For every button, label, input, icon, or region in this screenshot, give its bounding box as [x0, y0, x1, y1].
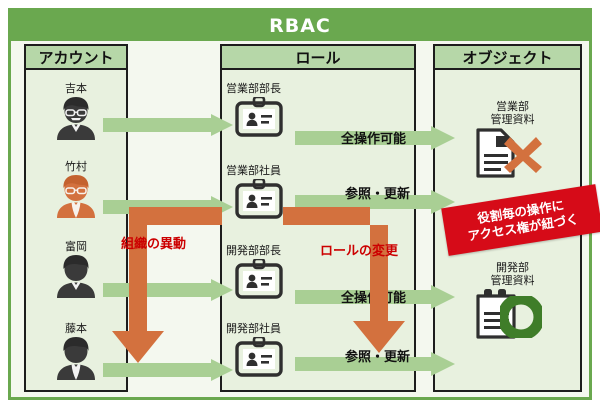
- cross-mark-icon: [503, 136, 543, 174]
- document-icon: [475, 127, 537, 179]
- id-badge-icon: [234, 259, 284, 299]
- object-entry-1[interactable]: 営業部 管理資料: [465, 100, 560, 179]
- account-entry-4[interactable]: 藤本: [30, 322, 122, 380]
- account-entry-2[interactable]: 竹村: [30, 160, 122, 218]
- object-entry-2[interactable]: 開発部 管理資料: [465, 261, 560, 340]
- object-name-1-line1: 営業部: [465, 100, 560, 113]
- person-icon: [53, 254, 99, 298]
- diagram-title: RBAC: [11, 11, 589, 41]
- account-entry-1[interactable]: 吉本: [30, 82, 122, 140]
- object-name-2-line2: 管理資料: [465, 274, 560, 287]
- id-badge-icon: [234, 179, 284, 219]
- role-change-arrow: [283, 203, 413, 355]
- role-column-header: ロール: [220, 44, 416, 70]
- object-name-2-line1: 開発部: [465, 261, 560, 274]
- role-name-2: 営業部社員: [226, 164, 322, 177]
- account-column-header: アカウント: [24, 44, 128, 70]
- object-column-header: オブジェクト: [433, 44, 582, 70]
- id-badge-icon: [234, 337, 284, 377]
- account-to-role-arrow-1: [103, 114, 233, 136]
- account-name-2: 竹村: [30, 160, 122, 173]
- role-entry-1[interactable]: 営業部部長: [226, 82, 322, 137]
- permission-label-1: 全操作可能: [341, 128, 406, 147]
- person-icon: [53, 336, 99, 380]
- person-glasses-icon: [53, 174, 99, 218]
- permission-label-2: 参照・更新: [345, 183, 410, 202]
- id-badge-icon: [234, 97, 284, 137]
- person-glasses-mustache-icon: [53, 96, 99, 140]
- account-name-1: 吉本: [30, 82, 122, 95]
- org-transfer-arrow: [112, 203, 222, 365]
- circle-mark-icon: [500, 296, 542, 338]
- role-change-label: ロールの変更: [320, 240, 398, 259]
- role-name-1: 営業部部長: [226, 82, 322, 95]
- rbac-diagram: RBAC アカウント ロール オブジェクト: [0, 0, 600, 408]
- object-name-1-line2: 管理資料: [465, 113, 560, 126]
- account-name-4: 藤本: [30, 322, 122, 335]
- account-name-3: 富岡: [30, 240, 122, 253]
- org-transfer-label: 組織の異動: [121, 233, 186, 252]
- clipboard-icon: [475, 288, 537, 340]
- account-entry-3[interactable]: 富岡: [30, 240, 122, 298]
